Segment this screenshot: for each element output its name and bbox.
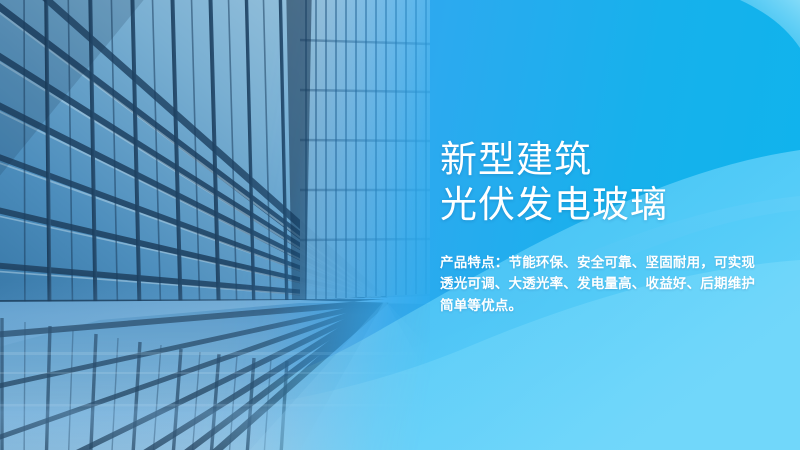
- product-description: 产品特点：节能环保、安全可靠、坚固耐用，可实现透光可调、大透光率、发电量高、收益…: [440, 252, 756, 317]
- copy-block: 新型建筑 光伏发电玻璃 产品特点：节能环保、安全可靠、坚固耐用，可实现透光可调、…: [440, 112, 770, 330]
- wedge-shape-top-right: [740, 0, 800, 48]
- building-photo: [0, 0, 430, 450]
- page-title: 新型建筑 光伏发电玻璃: [440, 137, 770, 227]
- title-line-2: 光伏发电玻璃: [440, 182, 770, 227]
- promo-banner: 新型建筑 光伏发电玻璃 产品特点：节能环保、安全可靠、坚固耐用，可实现透光可调、…: [0, 0, 800, 450]
- title-line-1: 新型建筑: [440, 139, 592, 180]
